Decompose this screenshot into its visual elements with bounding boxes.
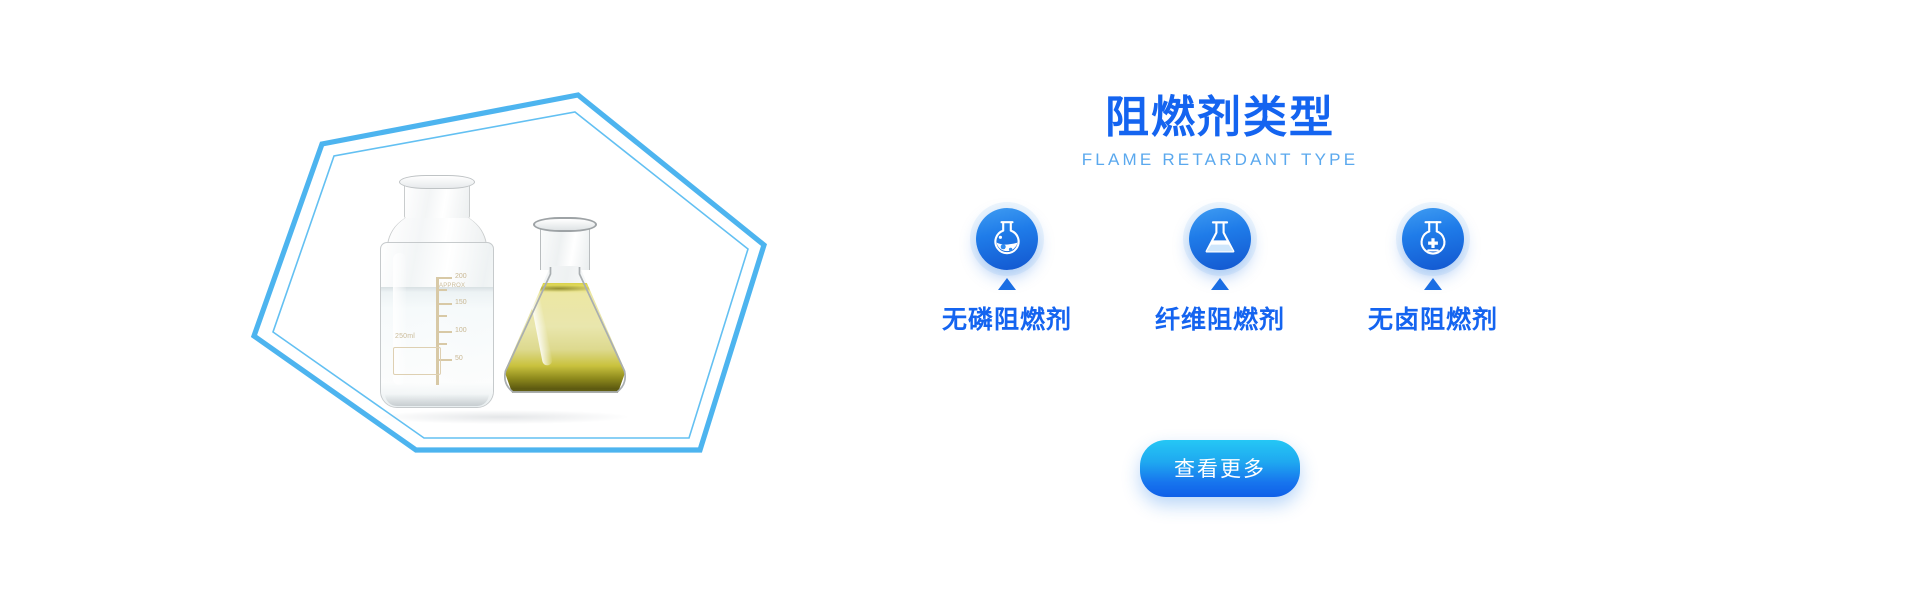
page-subtitle: FLAME RETARDANT TYPE bbox=[880, 150, 1560, 170]
category-card-list: 无磷阻燃剂 纤维阻燃剂 bbox=[880, 208, 1560, 336]
category-card-label: 无磷阻燃剂 bbox=[942, 300, 1072, 336]
reagent-bottle-image: 200 150 100 50 APPROX 250ml bbox=[378, 178, 496, 410]
bottle-base-shadow bbox=[385, 394, 489, 406]
card-pointer-triangle-icon bbox=[998, 278, 1016, 290]
card-pointer-triangle-icon bbox=[1211, 278, 1229, 290]
flask-yellow-liquid bbox=[502, 283, 628, 398]
bottle-tick-label: 200 bbox=[455, 273, 467, 280]
bottle-approx-label: APPROX bbox=[439, 283, 465, 289]
conical-flask-icon[interactable] bbox=[1189, 208, 1251, 270]
bottle-body: 200 150 100 50 APPROX 250ml bbox=[380, 242, 494, 408]
flask-cone bbox=[502, 266, 628, 398]
bottle-tick-label: 50 bbox=[455, 355, 463, 362]
bottle-tick-label: 150 bbox=[455, 299, 467, 306]
flame-retardant-banner: 200 150 100 50 APPROX 250ml bbox=[0, 0, 1920, 600]
flask-with-plus-icon[interactable] bbox=[1402, 208, 1464, 270]
conical-flask-image bbox=[502, 218, 628, 410]
product-visual-stage: 200 150 100 50 APPROX 250ml bbox=[230, 40, 790, 500]
card-pointer-triangle-icon bbox=[1424, 278, 1442, 290]
product-shadow bbox=[376, 410, 628, 424]
bottle-tick-label: 100 bbox=[455, 327, 467, 334]
category-card-halogen-free[interactable]: 无卤阻燃剂 bbox=[1358, 208, 1508, 336]
bottle-volume-label: 250ml bbox=[395, 333, 415, 340]
product-photo: 200 150 100 50 APPROX 250ml bbox=[350, 140, 670, 440]
category-card-label: 无卤阻燃剂 bbox=[1368, 300, 1498, 336]
round-flask-with-bubbles-icon[interactable] bbox=[976, 208, 1038, 270]
category-card-label: 纤维阻燃剂 bbox=[1155, 300, 1285, 336]
category-card-phosphorus-free[interactable]: 无磷阻燃剂 bbox=[932, 208, 1082, 336]
page-title: 阻燃剂类型 bbox=[880, 92, 1560, 144]
heading-block: 阻燃剂类型 FLAME RETARDANT TYPE bbox=[880, 92, 1560, 170]
bottle-blank-label bbox=[393, 347, 441, 375]
view-more-button[interactable]: 查看更多 bbox=[1140, 440, 1300, 497]
flask-lip bbox=[533, 217, 597, 232]
bottle-lip bbox=[399, 175, 475, 189]
category-card-fiber[interactable]: 纤维阻燃剂 bbox=[1145, 208, 1295, 336]
cta-container: 查看更多 bbox=[880, 440, 1560, 497]
